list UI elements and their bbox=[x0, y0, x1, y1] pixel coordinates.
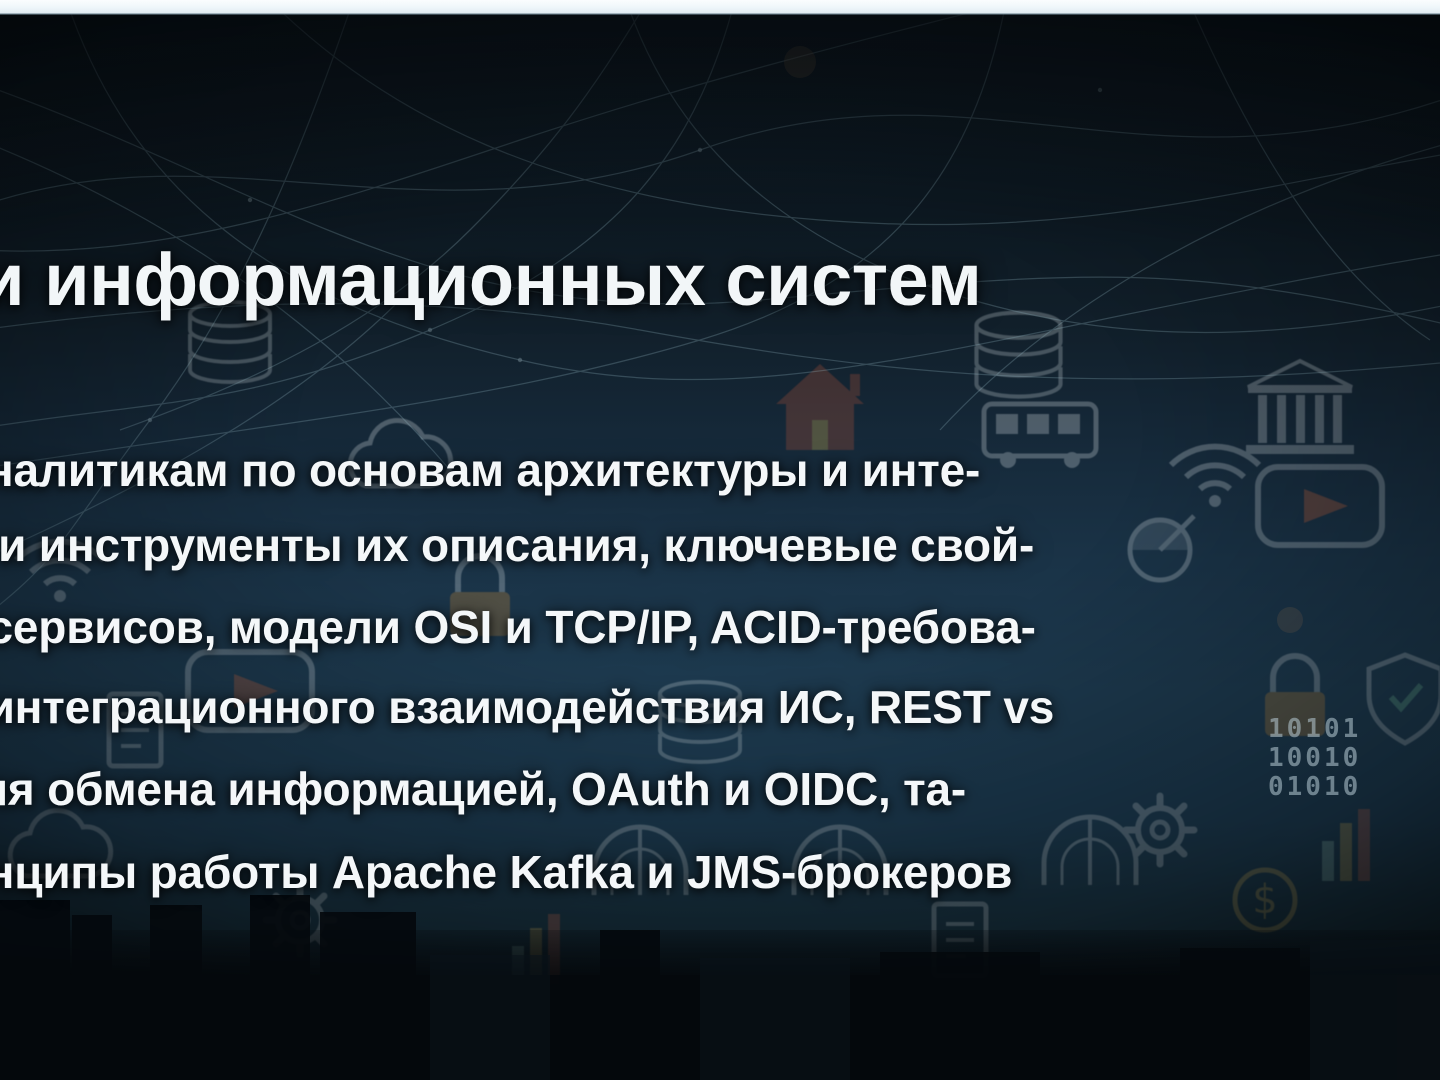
slide-text-block: трации информационных систем и бизнес-ан… bbox=[0, 0, 1440, 1080]
slide-body-line-3: а от микросервисов, модели OSI и TCP/IP,… bbox=[0, 600, 1440, 654]
slide-body-line-2: не модели и инструменты их описания, клю… bbox=[0, 518, 1440, 572]
top-white-strip bbox=[0, 0, 1440, 14]
slide-title: трации информационных систем bbox=[0, 243, 1440, 317]
slide-body-line-5: ументов для обмена информацией, OAuth и … bbox=[0, 762, 1440, 816]
presentation-slide: $ bbox=[0, 0, 1440, 1080]
slide-body-line-1: и бизнес-аналитикам по основам архитекту… bbox=[0, 443, 1440, 497]
slide-body-line-6: ветов, принципы работы Apache Kafka и JM… bbox=[0, 845, 1440, 899]
top-strip-divider bbox=[0, 13, 1440, 15]
slide-body-line-4: , способы интеграционного взаимодействия… bbox=[0, 680, 1440, 734]
